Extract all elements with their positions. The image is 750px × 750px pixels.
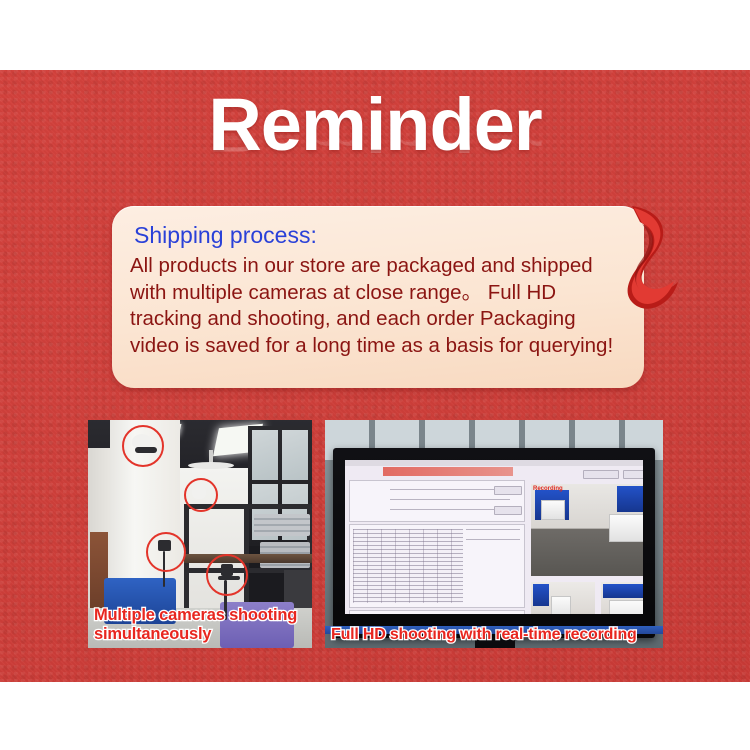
window-pane — [282, 430, 308, 480]
settings-panel — [349, 480, 525, 522]
camera-highlight-circle-3 — [146, 532, 186, 572]
photo-warehouse-cameras[interactable]: Multiple cameras shooting simultaneously — [88, 420, 312, 648]
callout-body-text: All products in our store are packaged a… — [130, 253, 622, 359]
camera-feed-sub-2 — [601, 582, 643, 614]
app-title-bar — [345, 460, 643, 466]
records-table-panel — [349, 524, 525, 608]
camera-highlight-circle-1 — [122, 425, 164, 467]
shipping-process-callout: Shipping process: All products in our st… — [112, 206, 644, 388]
page-title-container: Reminder — [0, 86, 750, 164]
app-red-banner — [383, 467, 513, 476]
camera-feed-sub-1 — [531, 582, 595, 614]
records-table-grid — [353, 529, 463, 603]
callout-heading: Shipping process: — [134, 220, 622, 250]
camera-highlight-circle-2 — [184, 478, 218, 512]
monitor-screen: Recording — [345, 460, 643, 614]
monitor-scene: Recording — [325, 420, 663, 648]
recording-indicator-label: Recording — [533, 486, 563, 492]
page-title: Reminder — [0, 86, 750, 164]
photo-gallery: Multiple cameras shooting simultaneously — [88, 420, 663, 648]
bottom-controls-panel — [349, 610, 525, 614]
toolbar-button — [583, 470, 619, 479]
window-pane — [252, 430, 278, 480]
camera-feed-main — [531, 484, 643, 576]
toolbar-button — [623, 470, 643, 479]
computer-monitor: Recording — [333, 448, 655, 638]
ceiling-fan — [188, 450, 234, 474]
fan-blade — [188, 462, 234, 469]
photo-caption-right: Full HD shooting with real-time recordin… — [325, 623, 663, 648]
stacked-parcels-top — [254, 514, 310, 536]
work-desk — [184, 554, 312, 563]
reminder-banner-page: Reminder Reminder Shipping process: All … — [0, 0, 750, 750]
photo-caption-left: Multiple cameras shooting simultaneously — [88, 604, 312, 648]
photo-monitor-recording[interactable]: Recording — [325, 420, 663, 648]
camera-highlight-circle-4 — [206, 554, 248, 596]
